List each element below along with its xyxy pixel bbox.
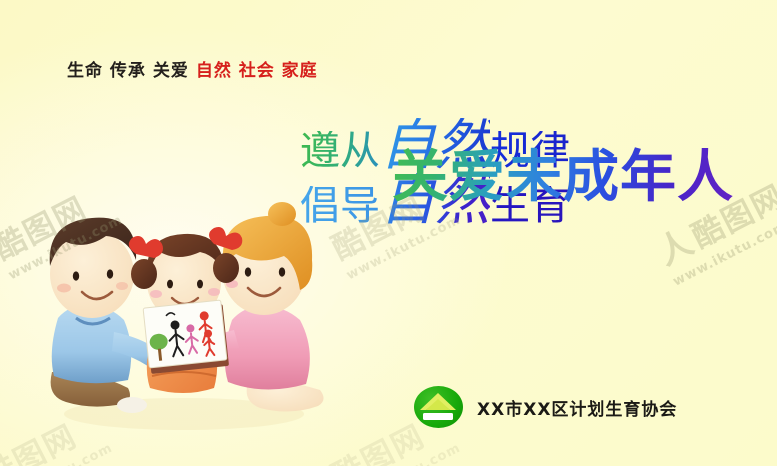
headline-block: 关爱未成年人 遵从自然规律 倡导自然生育 <box>300 118 770 358</box>
mother-eye-right <box>279 267 285 276</box>
top-slogan-red-text: 自然 社会 家庭 <box>196 61 318 81</box>
top-slogan-dark-text: 生命 传承 关爱 <box>67 61 189 81</box>
father-blush-right <box>116 282 128 290</box>
daughter-pigtail-left <box>131 259 157 289</box>
drawing-paper <box>143 300 227 368</box>
watermark-url-text: www.ikutu.com <box>0 441 115 466</box>
headline-line-1: 关爱未成年人 <box>392 132 734 213</box>
daughter-blush-left <box>150 290 162 298</box>
daughter-blush-right <box>208 288 220 296</box>
organisation-block: XX市XX区计划生育协会 <box>414 386 677 428</box>
daughter-eye-right <box>197 280 203 289</box>
mother-hair-bun <box>268 202 296 226</box>
organisation-name: XX市XX区计划生育协会 <box>477 395 677 420</box>
family-illustration-svg <box>36 196 326 436</box>
daughter-eye-left <box>167 280 173 289</box>
father-blush-left <box>57 284 71 293</box>
family-illustration <box>36 196 326 436</box>
childs-drawing <box>143 300 229 374</box>
father-foot <box>117 397 147 413</box>
father-eye-right <box>107 269 113 278</box>
green-oval-house-icon <box>414 386 463 428</box>
headline-line-2-prefix: 遵从 <box>300 131 380 171</box>
logo-house-mark <box>414 386 463 428</box>
headline-line-3-prefix: 倡导 <box>300 186 380 226</box>
daughter-pigtail-right <box>213 253 239 283</box>
father-eye-left <box>73 271 79 280</box>
logo-base-bar <box>423 413 453 420</box>
poster-canvas: 生命 传承 关爱自然 社会 家庭 <box>0 0 777 466</box>
watermark-url-text: www.ikutu.com <box>344 441 463 466</box>
mother-eye-left <box>245 267 251 276</box>
top-slogan: 生命 传承 关爱自然 社会 家庭 <box>67 56 318 81</box>
